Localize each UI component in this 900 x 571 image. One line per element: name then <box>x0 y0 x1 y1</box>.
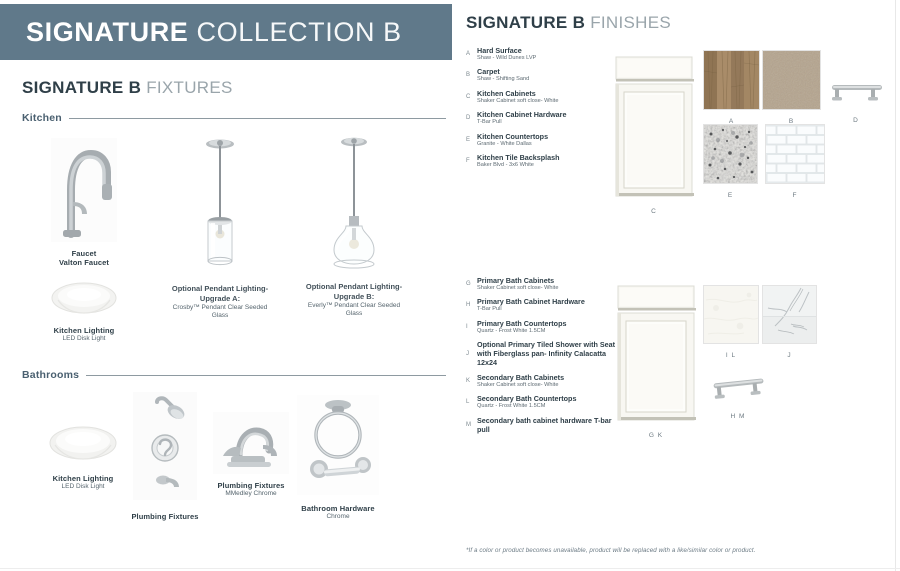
legend-desc: Shaker Cabinet soft close- White <box>477 382 616 389</box>
legend-name: Secondary Bath Cabinets <box>477 373 616 382</box>
legend-name: Kitchen Countertops <box>477 132 616 141</box>
bar-pull-swatch <box>706 374 770 406</box>
legend-item: A Hard Surface Shaw - Wild Dunes LVP <box>466 46 616 62</box>
legend-desc: Quartz - Frost White 1.5CM <box>477 403 616 410</box>
swatch-letter: C <box>612 208 696 215</box>
swatch-carpet-b: B <box>762 50 821 125</box>
fixture-pendant-a: Optional Pendant Lighting- Upgrade A: Cr… <box>166 135 274 320</box>
legend-item: K Secondary Bath Cabinets Shaker Cabinet… <box>466 373 616 389</box>
legend-name: Carpet <box>477 67 616 76</box>
legend-name: Kitchen Cabinets <box>477 89 616 98</box>
legend-letter: L <box>466 394 477 410</box>
finishes-title: SIGNATURE B FINISHES <box>466 13 671 33</box>
calacatta-swatch <box>762 285 817 344</box>
legend-name: Hard Surface <box>477 46 616 55</box>
pendant-cylinder-icon <box>190 135 250 275</box>
finishes-legend-bottom: G Primary Bath Cabinets Shaker Cabinet s… <box>466 276 616 439</box>
swatch-letter: E <box>703 192 758 199</box>
fixture-bath-hardware-name: Bathroom Hardware <box>292 504 384 513</box>
legend-item: E Kitchen Countertops Granite - White Da… <box>466 132 616 148</box>
swatch-pull-d: D <box>824 78 888 124</box>
fixture-faucet-name: Faucet <box>36 249 132 258</box>
subway-tile-swatch <box>765 124 825 184</box>
legend-item: H Primary Bath Cabinet Hardware T-Bar Pu… <box>466 297 616 313</box>
swatch-cabinet-gk: G K <box>614 284 698 439</box>
fixture-faucet-model: Valton Faucet <box>36 258 132 267</box>
legend-item: I Primary Bath Countertops Quartz - Fros… <box>466 319 616 335</box>
legend-letter: I <box>466 319 477 335</box>
legend-desc: T-Bar Pull <box>477 306 616 313</box>
legend-letter: M <box>466 416 477 434</box>
finishes-title-light: FINISHES <box>590 13 671 32</box>
fixture-lav-faucet-name: Plumbing Fixtures <box>208 481 294 490</box>
legend-letter: C <box>466 89 477 105</box>
swatch-granite-e: E <box>703 124 758 199</box>
legend-name: Primary Bath Cabinet Hardware <box>477 297 616 306</box>
legend-name: Secondary bath cabinet hardware T-bar pu… <box>477 416 616 434</box>
swatch-letter: D <box>824 117 888 124</box>
legend-letter: K <box>466 373 477 389</box>
pendant-bell-icon <box>322 133 386 273</box>
legend-name: Kitchen Tile Backsplash <box>477 153 616 162</box>
cabinet-door-swatch <box>612 55 696 200</box>
fixture-kitchen-lighting: Kitchen Lighting LED Disk Light <box>34 278 134 344</box>
fixture-bath-lighting-name: Kitchen Lighting <box>33 474 133 483</box>
legend-desc: Shaw - Shifting Sand <box>477 76 616 83</box>
legend-desc: Granite - White Dallas <box>477 141 616 148</box>
legend-item: G Primary Bath Cabinets Shaker Cabinet s… <box>466 276 616 292</box>
bar-pull-swatch <box>824 78 888 110</box>
group-rule-bathrooms <box>86 375 446 376</box>
legend-desc: Quartz - Frost White 1.5CM <box>477 328 616 335</box>
finishes-title-bold: SIGNATURE B <box>466 13 585 32</box>
legend-desc: Shaw - Wild Dunes LVP <box>477 55 616 62</box>
fixtures-section-title: SIGNATURE B FIXTURES <box>22 78 233 98</box>
fixture-shower-trim-name: Plumbing Fixtures <box>120 512 210 521</box>
legend-desc: Shaker Cabinet soft close- White <box>477 285 616 292</box>
cabinet-door-swatch <box>614 284 698 424</box>
swatch-letter: H M <box>706 413 770 420</box>
design-selections-page: SIGNATURE COLLECTION B SIGNATURE B FIXTU… <box>0 0 900 571</box>
legend-item: C Kitchen Cabinets Shaker Cabinet soft c… <box>466 89 616 105</box>
swatch-letter: F <box>765 192 825 199</box>
group-label-bathrooms: Bathrooms <box>22 369 86 381</box>
fixture-lav-faucet: Plumbing Fixtures MMedley Chrome <box>208 412 294 499</box>
group-header-kitchen: Kitchen <box>22 112 446 124</box>
legend-desc: Shaker Cabinet soft close- White <box>477 98 616 105</box>
swatch-backsplash-f: F <box>765 124 825 199</box>
legend-desc: Baker Blvd - 3x6 White <box>477 162 616 169</box>
finishes-panel: SIGNATURE B FINISHES A Hard Surface Shaw… <box>458 0 900 571</box>
disk-light-icon <box>50 278 118 318</box>
fixture-bath-lighting: Kitchen Lighting LED Disk Light <box>33 422 133 492</box>
legend-letter: A <box>466 46 477 62</box>
legend-desc: T-Bar Pull <box>477 119 616 126</box>
towel-ring-icon <box>297 395 379 495</box>
legend-item: M Secondary bath cabinet hardware T-bar … <box>466 416 616 434</box>
swatter-letter: I L <box>703 352 759 359</box>
legend-letter: E <box>466 132 477 148</box>
fixture-bath-hardware: Bathroom Hardware Chrome <box>292 395 384 522</box>
quartz-swatch <box>703 285 759 344</box>
fixture-kitchen-lighting-model: LED Disk Light <box>34 335 134 343</box>
swatch-letter: G K <box>614 432 698 439</box>
fixture-faucet: Faucet Valton Faucet <box>36 138 132 268</box>
banner-title-bold: SIGNATURE <box>26 17 188 47</box>
fixture-pendant-b-name: Optional Pendant Lighting- Upgrade B: <box>300 282 408 302</box>
banner-title-light: COLLECTION B <box>197 17 402 47</box>
fixture-bath-hardware-model: Chrome <box>292 513 384 521</box>
legend-letter: H <box>466 297 477 313</box>
fixture-shower-trim: Plumbing Fixtures <box>120 392 210 521</box>
page-bottom-rule <box>0 568 900 569</box>
swatch-pull-hm: H M <box>706 374 770 420</box>
legend-name: Primary Bath Countertops <box>477 319 616 328</box>
legend-item: L Secondary Bath Countertops Quartz - Fr… <box>466 394 616 410</box>
faucet-icon <box>51 138 117 242</box>
fixtures-title-bold: SIGNATURE B <box>22 78 141 97</box>
panel-divider <box>895 0 896 571</box>
disk-light-icon <box>48 422 118 464</box>
fixtures-panel: SIGNATURE COLLECTION B SIGNATURE B FIXTU… <box>0 0 458 571</box>
fixture-bath-lighting-model: LED Disk Light <box>33 483 133 491</box>
finishes-footnote: *If a color or product becomes unavailab… <box>466 547 756 554</box>
legend-name: Primary Bath Cabinets <box>477 276 616 285</box>
fixture-pendant-b: Optional Pendant Lighting- Upgrade B: Ev… <box>300 133 408 318</box>
wood-lvp-swatch <box>703 50 760 110</box>
fixture-pendant-a-model: Crosby™ Pendant Clear Seeded Glass <box>166 304 274 320</box>
carpet-swatch <box>762 50 821 110</box>
swatch-lvp-a: A <box>703 50 760 125</box>
swatch-quartz-il: I L <box>703 285 759 359</box>
shower-trim-icon <box>133 392 197 500</box>
swatch-letter: J <box>762 352 817 359</box>
legend-name: Kitchen Cabinet Hardware <box>477 110 616 119</box>
legend-item: D Kitchen Cabinet Hardware T-Bar Pull <box>466 110 616 126</box>
legend-item: J Optional Primary Tiled Shower with Sea… <box>466 340 616 367</box>
legend-letter: F <box>466 153 477 169</box>
banner-title: SIGNATURE COLLECTION B <box>26 19 402 46</box>
finishes-legend-top: A Hard Surface Shaw - Wild Dunes LVP B C… <box>466 46 616 175</box>
legend-letter: D <box>466 110 477 126</box>
legend-letter: G <box>466 276 477 292</box>
legend-item: F Kitchen Tile Backsplash Baker Blvd - 3… <box>466 153 616 169</box>
group-rule-kitchen <box>69 118 446 119</box>
legend-name: Optional Primary Tiled Shower with Seat … <box>477 340 616 367</box>
legend-item: B Carpet Shaw - Shifting Sand <box>466 67 616 83</box>
swatch-cabinet-c: C <box>612 55 696 215</box>
fixture-lav-faucet-model: MMedley Chrome <box>208 490 294 498</box>
fixture-pendant-a-name: Optional Pendant Lighting- Upgrade A: <box>166 284 274 304</box>
fixture-pendant-b-model: Everly™ Pendant Clear Seeded Glass <box>300 302 408 318</box>
granite-swatch <box>703 124 758 184</box>
collection-banner: SIGNATURE COLLECTION B <box>0 4 452 60</box>
swatch-calacatta-j: J <box>762 285 817 359</box>
legend-letter: J <box>466 340 477 367</box>
fixture-kitchen-lighting-name: Kitchen Lighting <box>34 326 134 335</box>
legend-letter: B <box>466 67 477 83</box>
fixtures-title-light: FIXTURES <box>146 78 232 97</box>
lav-faucet-icon <box>213 412 289 474</box>
group-header-bathrooms: Bathrooms <box>22 369 446 381</box>
legend-name: Secondary Bath Countertops <box>477 394 616 403</box>
group-label-kitchen: Kitchen <box>22 112 69 124</box>
